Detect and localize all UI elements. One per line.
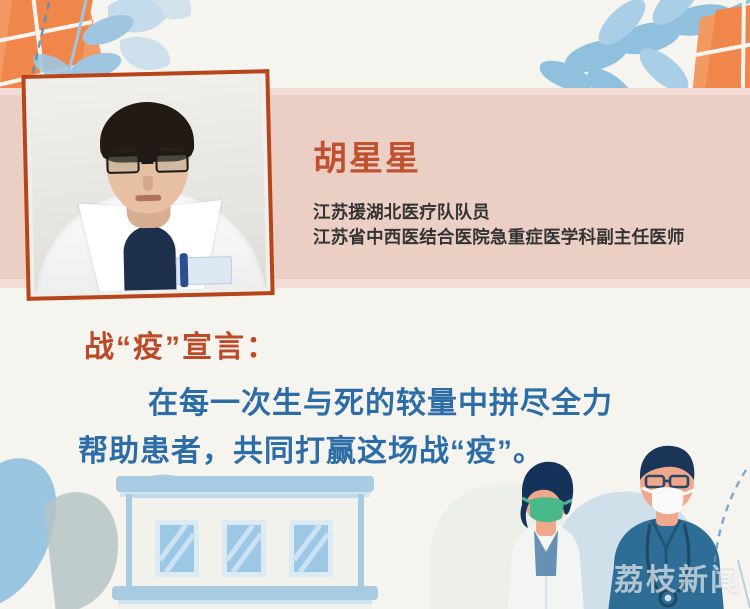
photo-nose bbox=[143, 176, 153, 191]
hospital-building bbox=[112, 476, 378, 609]
person-name: 胡星星 bbox=[313, 142, 421, 176]
declaration-line-1: 在每一次生与死的较量中拼尽全力 bbox=[148, 378, 613, 422]
portrait-photo bbox=[30, 77, 267, 292]
nurse-mask bbox=[530, 497, 564, 522]
photo-sweater bbox=[123, 225, 177, 292]
building-windows bbox=[155, 520, 333, 577]
declaration-line-2: 帮助患者，共同打赢这场战“疫”。 bbox=[78, 426, 544, 470]
photo-pen bbox=[180, 253, 189, 287]
photo-glasses-bridge bbox=[141, 161, 153, 164]
photo-lens-left bbox=[106, 154, 139, 174]
doctor-mask bbox=[652, 487, 684, 514]
person-role-line-1: 江苏援湖北医疗队队员 bbox=[313, 200, 685, 225]
declaration-title: 战“疫”宣言： bbox=[84, 322, 278, 366]
person-role-line-2: 江苏省中西医结合医院急重症医学科副主任医师 bbox=[313, 225, 685, 250]
photo-mouth bbox=[135, 195, 161, 202]
portrait-frame bbox=[21, 69, 274, 301]
photo-lens-right bbox=[155, 153, 188, 173]
portrait-card bbox=[21, 69, 274, 301]
photo-glasses bbox=[105, 153, 189, 175]
person-roles: 江苏援湖北医疗队队员 江苏省中西医结合医院急重症医学科副主任医师 bbox=[313, 200, 685, 250]
poster-canvas: 胡星星 江苏援湖北医疗队队员 江苏省中西医结合医院急重症医学科副主任医师 战“疫… bbox=[0, 0, 750, 609]
